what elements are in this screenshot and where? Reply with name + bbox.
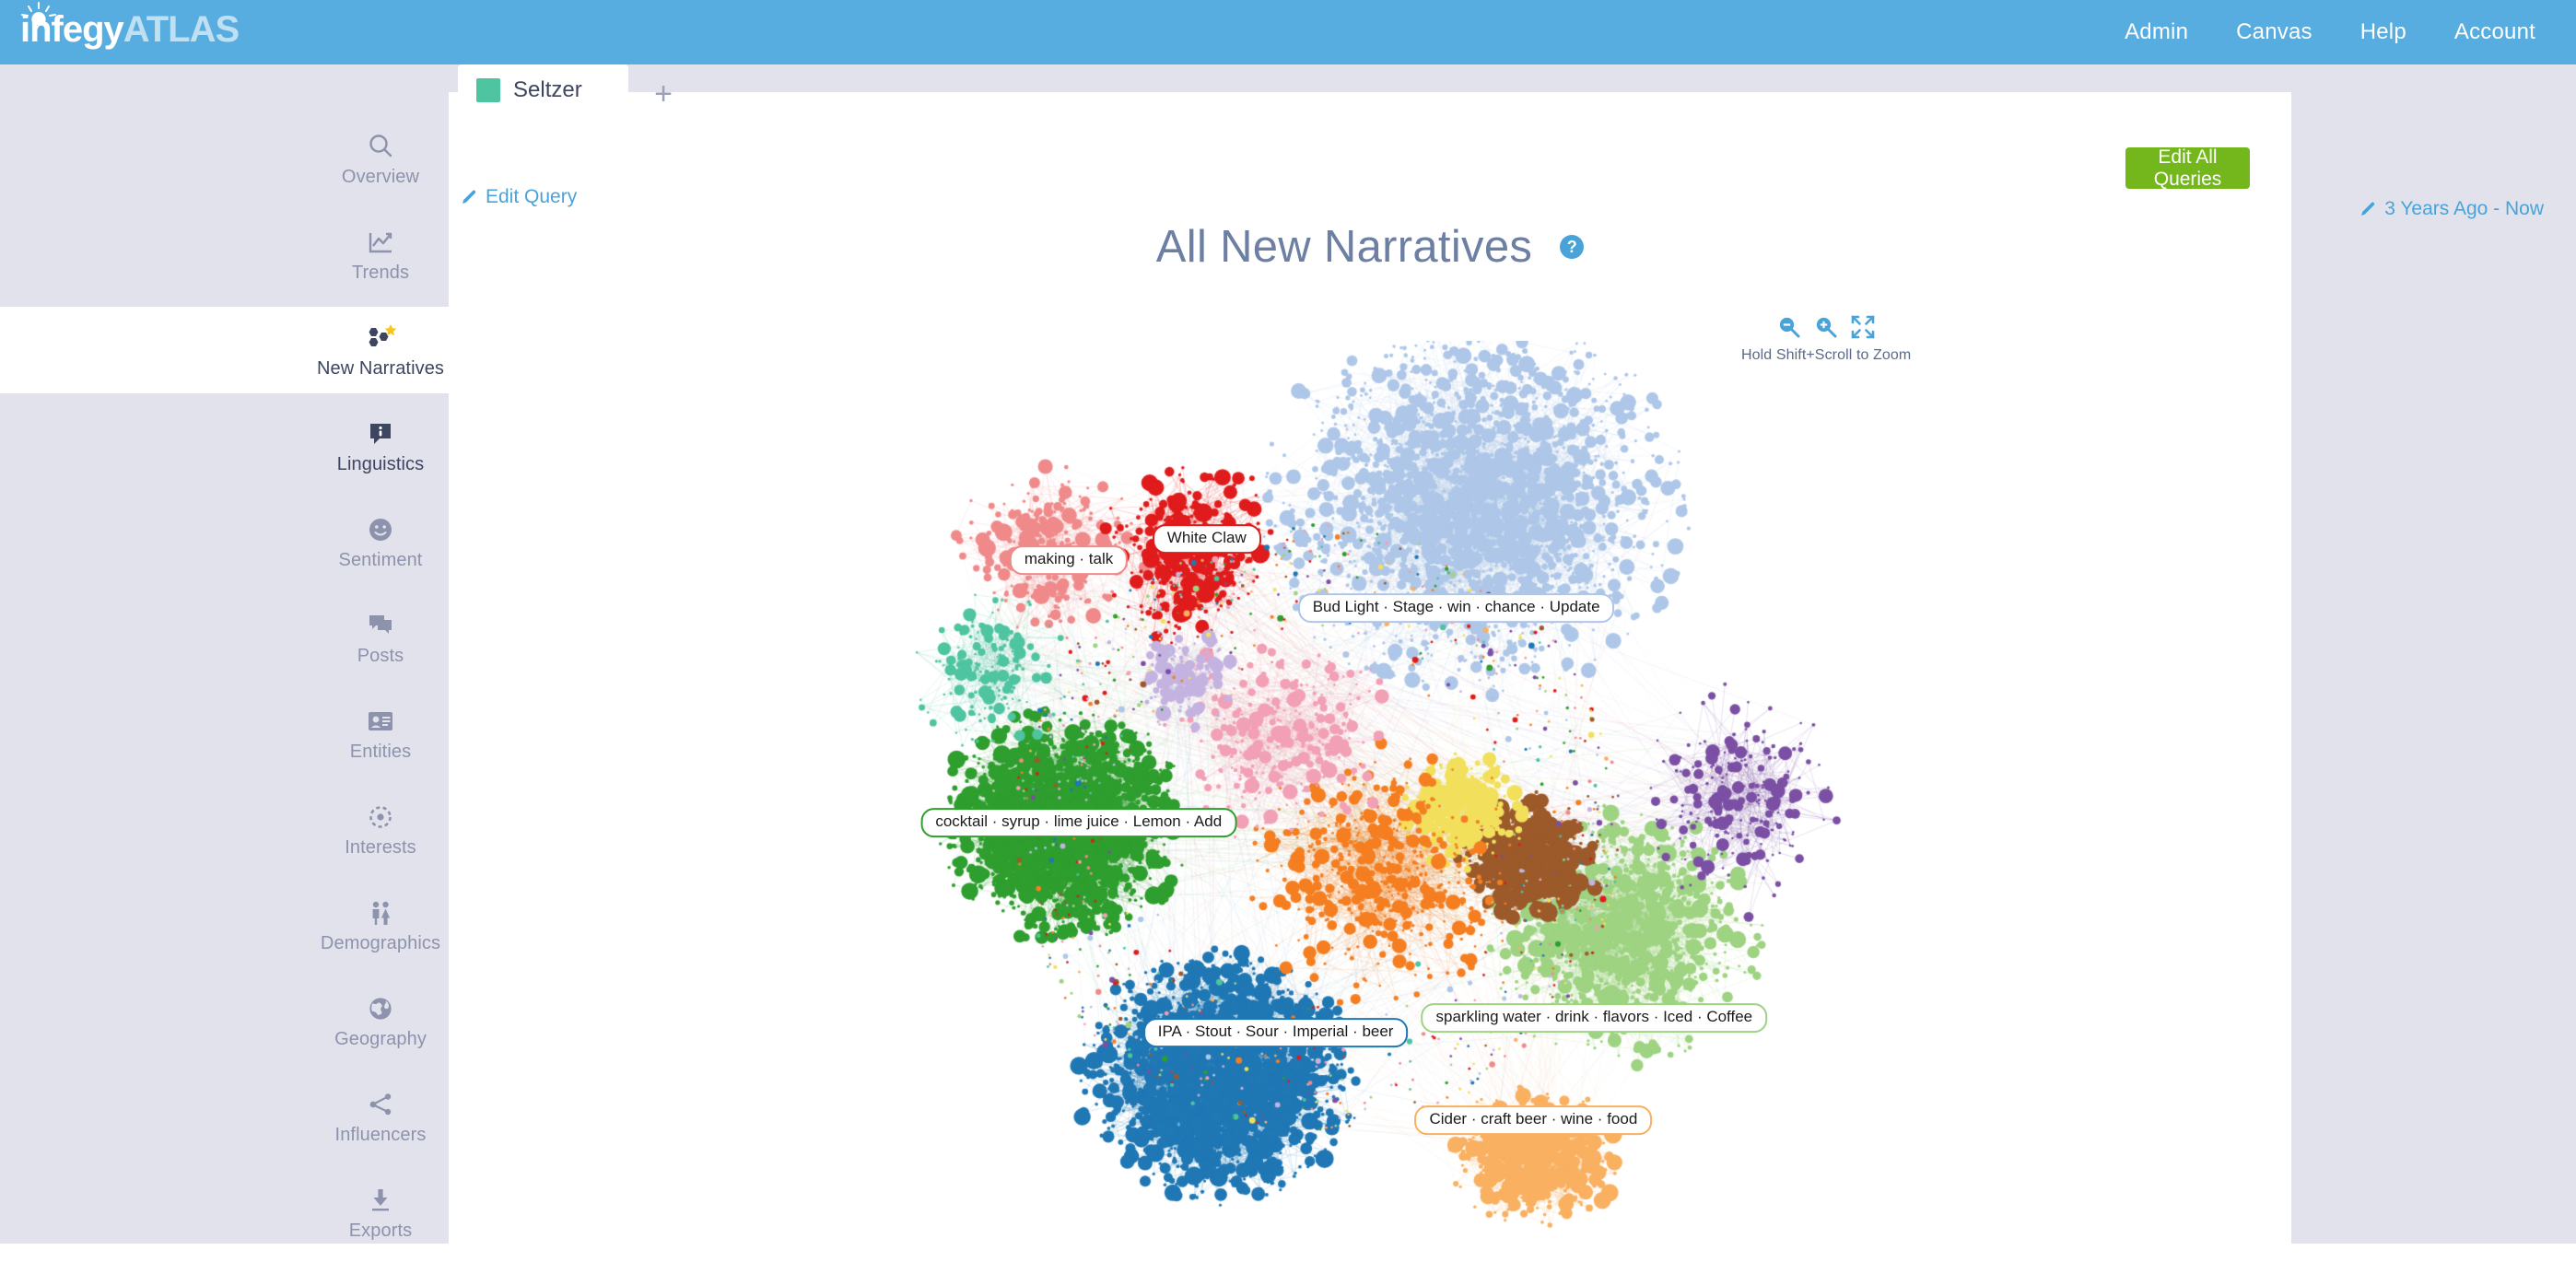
sidebar-item-label: Posts	[357, 646, 404, 667]
question-mark-circle-icon[interactable]: ?	[1560, 235, 1584, 259]
edit-query-label: Edit Query	[486, 186, 577, 208]
sidebar-navigation: Overview Trends	[0, 64, 449, 1244]
chart-header: All New Narratives ?	[449, 221, 2291, 273]
nav-item-account[interactable]: Account	[2454, 19, 2535, 45]
nav-item-canvas[interactable]: Canvas	[2236, 19, 2313, 45]
sidebar-item-label: Influencers	[335, 1125, 427, 1146]
sidebar-item-label: Geography	[334, 1029, 427, 1050]
sidebar-item-sentiment[interactable]: Sentiment	[0, 498, 449, 585]
search-icon	[367, 129, 394, 160]
speech-bubble-alert-icon	[367, 416, 394, 448]
sidebar-item-trends[interactable]: Trends	[0, 211, 449, 298]
dotted-circle-icon	[367, 800, 394, 831]
magnifier-plus-icon[interactable]	[1814, 315, 1838, 344]
brand-logo[interactable]: infegyATLAS	[0, 0, 239, 64]
tab-strip	[449, 64, 2576, 92]
date-range-label: 3 Years Ago - Now	[2384, 198, 2544, 220]
tab-color-swatch	[476, 78, 500, 102]
chat-bubbles-icon	[367, 608, 394, 639]
cluster-label-bud-light[interactable]: Bud Light · Stage · win · chance · Updat…	[1298, 593, 1615, 623]
network-canvas[interactable]	[449, 341, 2291, 1262]
share-network-icon	[367, 1087, 394, 1118]
node-cluster-star-icon	[364, 321, 397, 352]
smiley-face-icon	[367, 512, 394, 543]
cluster-label-making-talk[interactable]: making · talk	[1010, 545, 1128, 575]
expand-arrows-icon[interactable]	[1851, 315, 1875, 344]
cluster-label-white-claw[interactable]: White Claw	[1153, 524, 1261, 554]
sidebar-item-label: Demographics	[321, 933, 440, 954]
sidebar-item-posts[interactable]: Posts	[0, 594, 449, 681]
sidebar-item-linguistics[interactable]: Linguistics	[0, 403, 449, 489]
sidebar-item-label: Sentiment	[339, 550, 423, 571]
sidebar-item-label: Trends	[352, 263, 409, 284]
globe-icon	[367, 991, 394, 1022]
top-navigation: Admin Canvas Help Account	[2125, 19, 2576, 45]
sidebar-item-label: Overview	[342, 167, 419, 188]
pencil-icon	[2359, 201, 2377, 218]
cluster-label-cider-craft-beer[interactable]: Cider · craft beer · wine · food	[1414, 1105, 1652, 1135]
add-tab-button[interactable]: +	[645, 76, 682, 112]
nav-item-admin[interactable]: Admin	[2125, 19, 2188, 45]
sidebar-item-label: New Narratives	[317, 358, 444, 380]
magnifier-minus-icon[interactable]	[1777, 315, 1801, 344]
people-icon	[366, 895, 395, 927]
pencil-icon	[461, 189, 478, 206]
sidebar-item-new-narratives[interactable]: New Narratives	[0, 307, 449, 393]
sidebar-item-exports[interactable]: Exports	[0, 1169, 449, 1256]
sidebar-item-overview[interactable]: Overview	[0, 115, 449, 202]
sidebar-item-label: Entities	[350, 742, 411, 763]
sidebar-item-influencers[interactable]: Influencers	[0, 1073, 449, 1160]
id-card-icon	[366, 704, 395, 735]
tab-label: Seltzer	[513, 77, 582, 103]
cluster-label-ipa-stout[interactable]: IPA · Stout · Sour · Imperial · beer	[1143, 1019, 1409, 1048]
nav-item-help[interactable]: Help	[2360, 19, 2406, 45]
line-chart-icon	[367, 225, 394, 256]
date-range-selector[interactable]: 3 Years Ago - Now	[2359, 198, 2544, 220]
sidebar-item-entities[interactable]: Entities	[0, 690, 449, 777]
download-icon	[367, 1183, 394, 1214]
brand-name-secondary: ATLAS	[123, 11, 239, 64]
tab-seltzer[interactable]: Seltzer	[458, 64, 628, 116]
cluster-label-sparkling-water[interactable]: sparkling water · drink · flavors · Iced…	[1422, 1003, 1768, 1033]
page-body: Overview Trends	[0, 64, 2576, 1244]
sidebar-item-geography[interactable]: Geography	[0, 977, 449, 1064]
sidebar-item-interests[interactable]: Interests	[0, 786, 449, 872]
lightbulb-icon	[17, 2, 61, 29]
sidebar-item-label: Linguistics	[337, 454, 424, 475]
top-header-bar: infegyATLAS Admin Canvas Help Account	[0, 0, 2576, 64]
cluster-label-cocktail[interactable]: cocktail · syrup · lime juice · Lemon · …	[920, 808, 1236, 837]
sidebar-item-label: Exports	[349, 1221, 413, 1242]
sidebar-item-label: Interests	[345, 837, 416, 859]
page-title: All New Narratives	[1156, 221, 1532, 273]
sidebar-item-demographics[interactable]: Demographics	[0, 882, 449, 968]
edit-query-link[interactable]: Edit Query	[461, 186, 577, 208]
edit-all-queries-button[interactable]: Edit All Queries	[2125, 147, 2250, 189]
narrative-network-graph[interactable]: making · talkWhite ClawBud Light · Stage…	[449, 341, 2291, 1262]
